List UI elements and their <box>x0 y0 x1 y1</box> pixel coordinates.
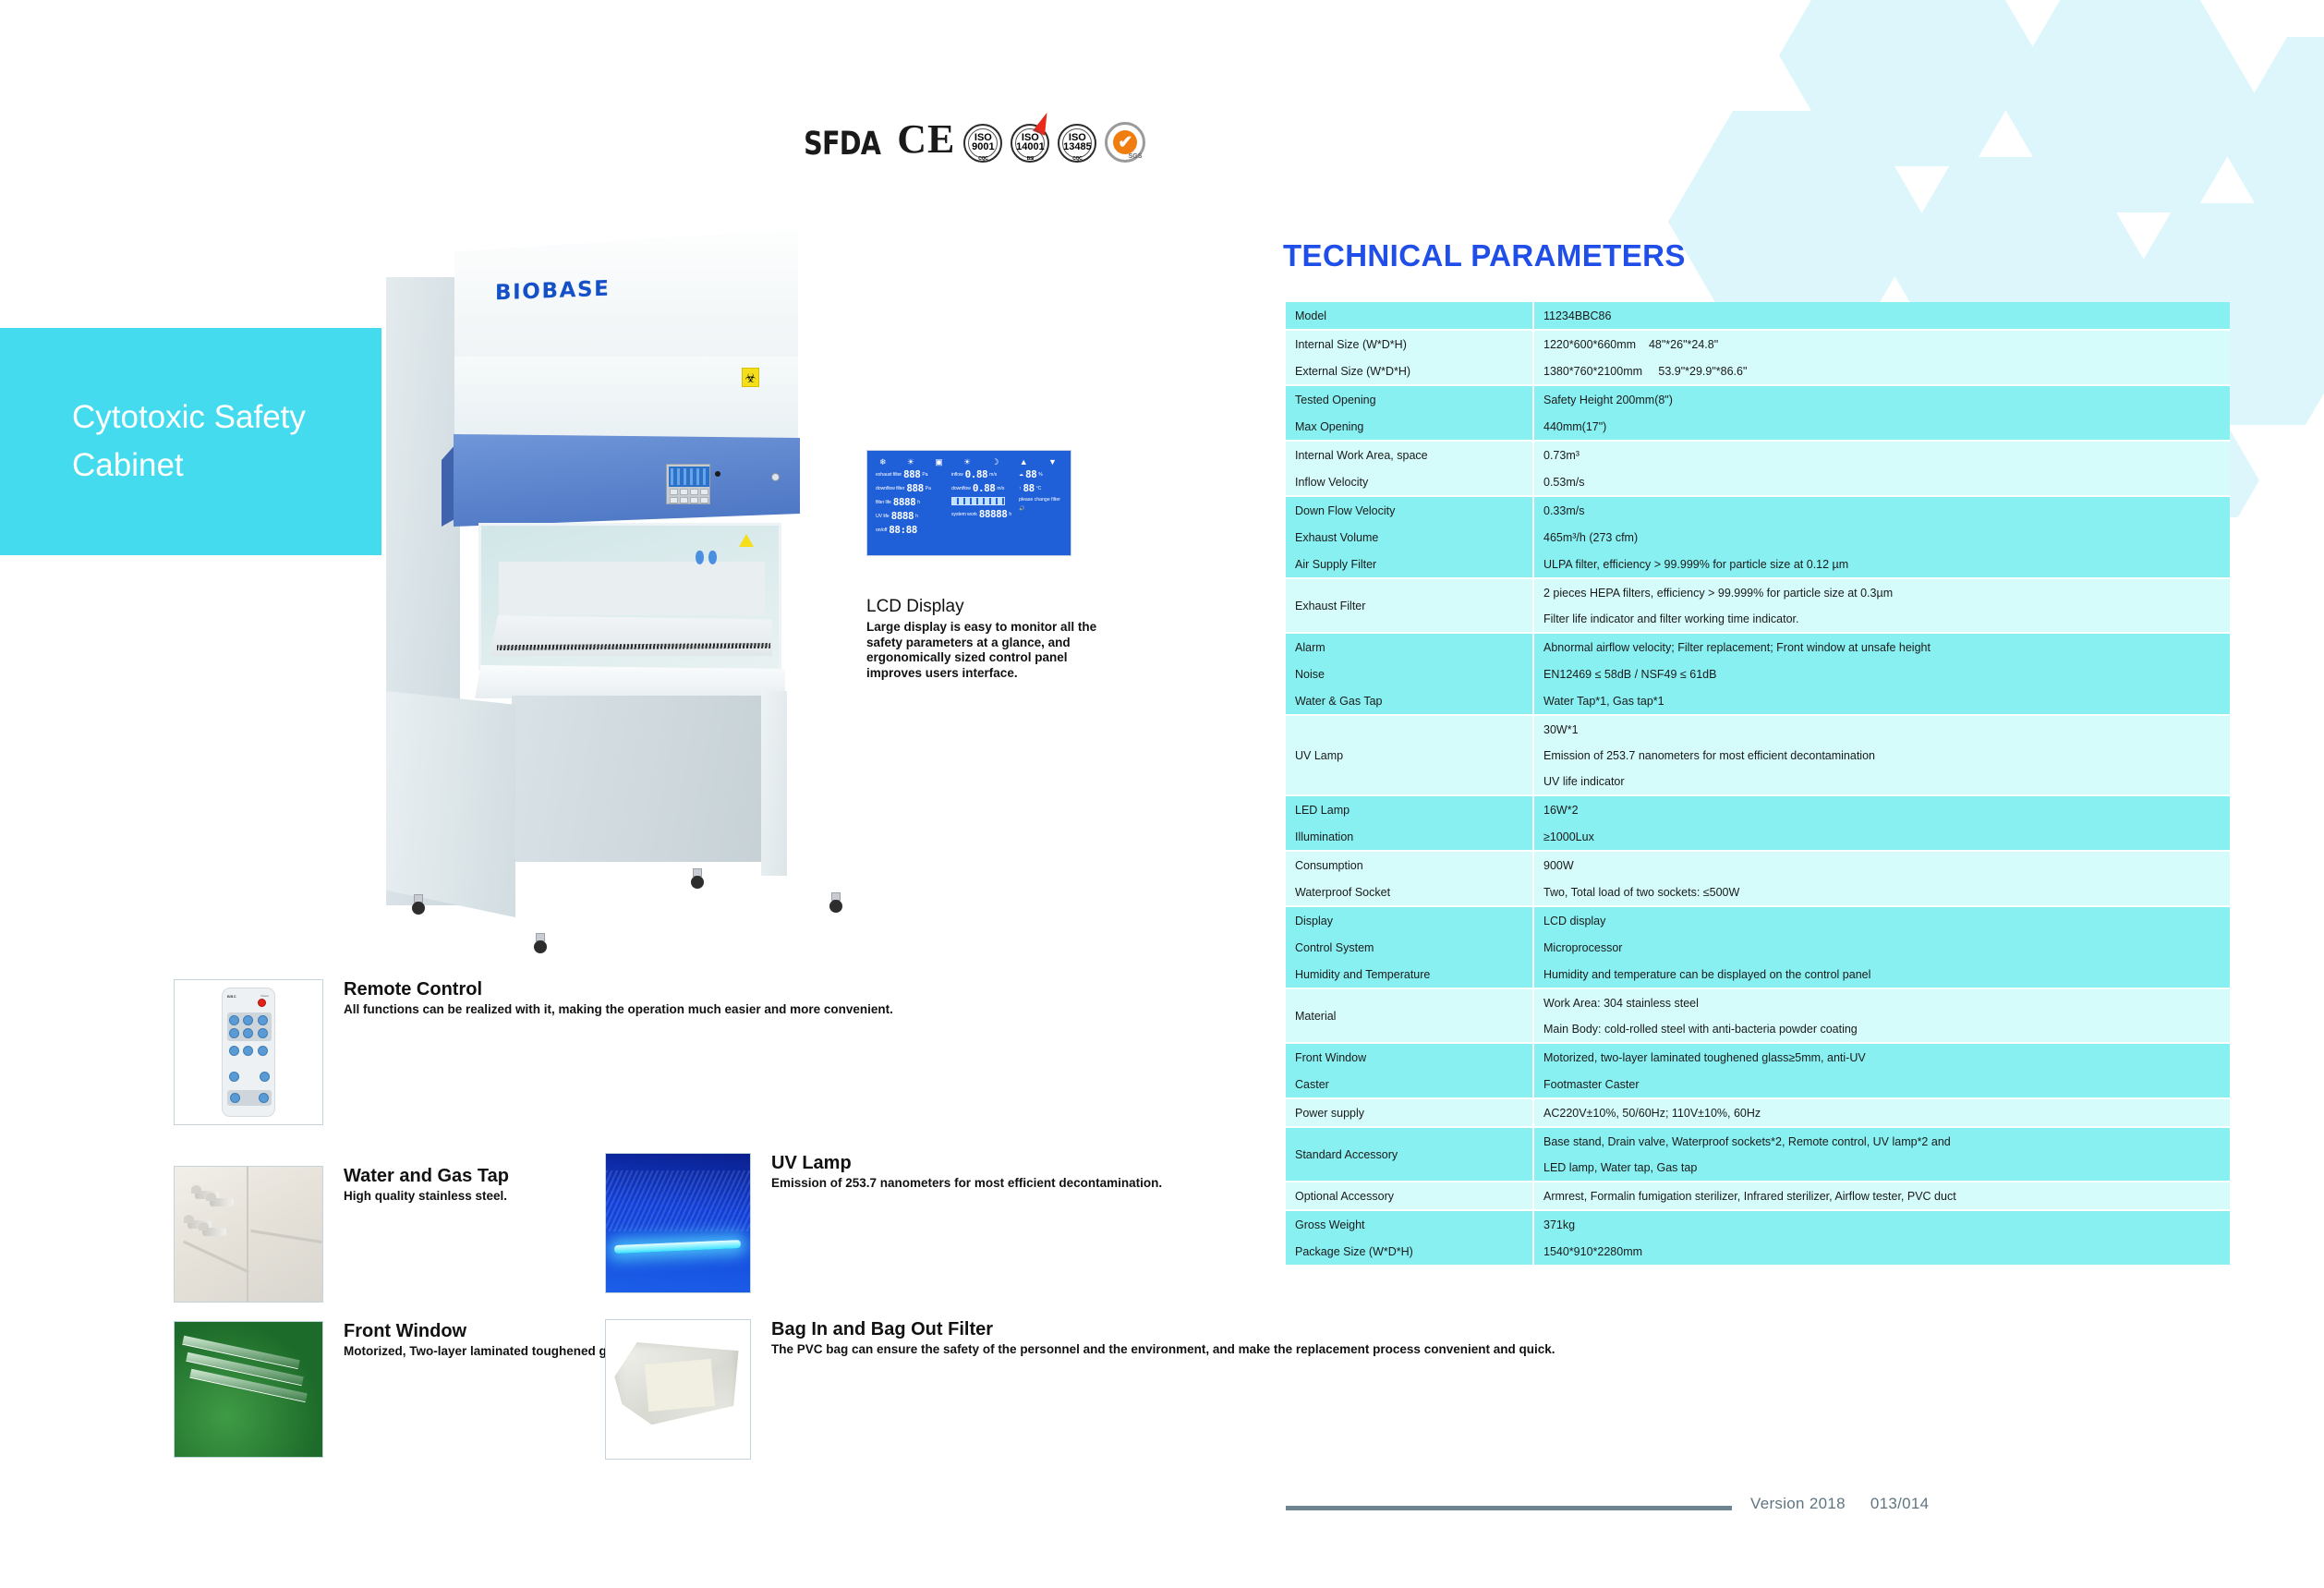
remote-button[interactable] <box>229 1072 239 1082</box>
warning-triangle-icon <box>739 534 754 547</box>
caster-wheel <box>829 892 842 913</box>
param-value-line: Filter life indicator and filter working… <box>1543 612 2221 626</box>
tap-photo-art <box>175 1167 322 1302</box>
lcd-unit: h <box>915 514 918 519</box>
remote-button[interactable] <box>229 1015 239 1025</box>
param-name: Caster <box>1286 1071 1533 1098</box>
table-row: Consumption900W <box>1286 851 2230 879</box>
cabinet-side-knob[interactable] <box>771 473 780 481</box>
iso-14001-badge: ISO 14001 BSI <box>1011 124 1049 163</box>
param-name: Internal Work Area, space <box>1286 441 1533 468</box>
param-value-line: 16W*2 <box>1543 803 2221 818</box>
param-name: Gross Weight <box>1286 1210 1533 1238</box>
shelf-rail <box>250 1230 322 1243</box>
page-number: 013/014 <box>1870 1495 1930 1512</box>
iso-number: 13485 <box>1063 142 1092 152</box>
feature-body: High quality stainless steel. <box>344 1189 509 1205</box>
param-value-line: 371kg <box>1543 1218 2221 1232</box>
param-value: 0.33m/s <box>1533 496 2230 524</box>
lcd-label: on/off <box>876 527 887 533</box>
lcd-value: 88:88 <box>889 525 917 535</box>
lcd-value: 8888 <box>891 511 914 521</box>
cabinet-base-stand-left <box>386 691 515 917</box>
param-value-line: 0.33m/s <box>1543 503 2221 518</box>
param-value: 371kg <box>1533 1210 2230 1238</box>
remote-keypad-group-2[interactable] <box>227 1044 272 1058</box>
light-icon: ☀ <box>907 457 914 467</box>
front-window-photo <box>174 1321 323 1458</box>
ir-receiver-icon <box>715 471 720 477</box>
caster-wheel <box>691 868 704 889</box>
param-value-line: UV life indicator <box>1543 774 2221 789</box>
param-value-line: AC220V±10%, 50/60Hz; 110V±10%, 60Hz <box>1543 1106 2221 1121</box>
param-value-line: EN12469 ≤ 58dB / NSF49 ≤ 61dB <box>1543 667 2221 682</box>
table-row: Internal Work Area, space0.73m³ <box>1286 441 2230 468</box>
cabinet-interior-back-wall <box>499 562 765 615</box>
remote-button[interactable] <box>260 1072 270 1082</box>
param-name: Power supply <box>1286 1098 1533 1127</box>
param-name: Water & Gas Tap <box>1286 687 1533 715</box>
param-value-line: LCD display <box>1543 914 2221 928</box>
param-value-line: Microprocessor <box>1543 940 2221 955</box>
param-name: Down Flow Velocity <box>1286 496 1533 524</box>
remote-button[interactable] <box>243 1015 253 1025</box>
thermometer-icon: ↑ <box>1019 486 1022 491</box>
lcd-label: filter life <box>876 500 891 505</box>
speaker-icon: 🔊 <box>1019 506 1062 512</box>
uv-tube <box>614 1240 742 1254</box>
param-value: 1220*600*660mm 48"*26"*24.8" <box>1533 330 2230 358</box>
remote-control-device: BBC Power <box>222 988 275 1117</box>
param-value-line: 2 pieces HEPA filters, efficiency > 99.9… <box>1543 586 2221 600</box>
table-row: DisplayLCD display <box>1286 906 2230 934</box>
lcd-display-caption: LCD Display Large display is easy to mon… <box>866 597 1116 681</box>
lcd-value: 88888 <box>979 509 1008 519</box>
param-value-line: ULPA filter, efficiency > 99.999% for pa… <box>1543 557 2221 572</box>
sfda-logo: SFDA <box>804 126 880 163</box>
param-name: Humidity and Temperature <box>1286 961 1533 988</box>
lcd-unit: m/s <box>989 472 997 478</box>
param-name: Air Supply Filter <box>1286 551 1533 578</box>
remote-button[interactable] <box>258 1028 268 1038</box>
param-name: Consumption <box>1286 851 1533 879</box>
lcd-unit: Pa <box>926 486 931 491</box>
feature-body: The PVC bag can ensure the safety of the… <box>771 1342 1555 1358</box>
param-name: LED Lamp <box>1286 795 1533 823</box>
param-value: Humidity and temperature can be displaye… <box>1533 961 2230 988</box>
keypad-key[interactable] <box>670 489 678 495</box>
param-value-line: Main Body: cold-rolled steel with anti-b… <box>1543 1022 2221 1036</box>
footer-divider <box>1286 1506 1732 1510</box>
remote-keypad-group-1[interactable] <box>227 1012 272 1041</box>
param-value-line: LED lamp, Water tap, Gas tap <box>1543 1160 2221 1175</box>
lcd-value: 888 <box>906 483 923 493</box>
lcd-label: UV life <box>876 514 890 519</box>
lcd-unit: Pa <box>922 472 927 478</box>
gas-tap-icon <box>708 551 717 564</box>
param-value: ≥1000Lux <box>1533 823 2230 851</box>
feature-water-and-gas-tap: Water and Gas Tap High quality stainless… <box>174 1166 509 1303</box>
param-value-line: 1540*910*2280mm <box>1543 1244 2221 1259</box>
glass-edge <box>247 1167 248 1303</box>
down-arrow-icon: ▼ <box>1048 457 1057 467</box>
uv-mesh-texture <box>606 1170 750 1231</box>
param-value: 440mm(17") <box>1533 413 2230 441</box>
param-value: Footmaster Caster <box>1533 1071 2230 1098</box>
param-value-line: Abnormal airflow velocity; Filter replac… <box>1543 640 2221 655</box>
param-value: Armrest, Formalin fumigation sterilizer,… <box>1533 1182 2230 1210</box>
table-row: Exhaust Filter2 pieces HEPA filters, eff… <box>1286 578 2230 633</box>
lcd-middle-column: inflow 0.88 m/s downflow 0.88 m/s system… <box>951 469 1013 535</box>
biobase-logo: BIOBASE <box>495 277 610 306</box>
param-name: External Size (W*D*H) <box>1286 358 1533 385</box>
lcd-unit: h <box>1009 512 1011 517</box>
table-row: NoiseEN12469 ≤ 58dB / NSF49 ≤ 61dB <box>1286 661 2230 687</box>
lcd-unit: °C <box>1036 486 1042 491</box>
page-title: TECHNICAL PARAMETERS <box>1283 238 1686 273</box>
lcd-downflow-reading: downflow 0.88 m/s <box>951 483 1013 493</box>
bag-photo-art <box>606 1320 750 1459</box>
remote-button[interactable] <box>243 1046 253 1056</box>
sgs-logo: ✔ SGS <box>1105 122 1145 163</box>
product-title-line-2: Cabinet <box>72 442 381 490</box>
keypad-key[interactable] <box>700 497 708 503</box>
iso-accreditor: BSI <box>1027 156 1034 162</box>
lcd-value: 0.88 <box>973 483 996 493</box>
water-gas-tap-photo <box>174 1166 323 1303</box>
param-value-line: 0.73m³ <box>1543 448 2221 463</box>
param-value-line: 1380*760*2100mm 53.9"*29.9"*86.6" <box>1543 364 2221 379</box>
param-value: AC220V±10%, 50/60Hz; 110V±10%, 60Hz <box>1533 1098 2230 1127</box>
param-value-line: Armrest, Formalin fumigation sterilizer,… <box>1543 1189 2221 1204</box>
keypad-key[interactable] <box>690 489 698 495</box>
table-row: Gross Weight371kg <box>1286 1210 2230 1238</box>
param-name: Exhaust Volume <box>1286 524 1533 551</box>
param-value: Water Tap*1, Gas tap*1 <box>1533 687 2230 715</box>
table-row: Humidity and TemperatureHumidity and tem… <box>1286 961 2230 988</box>
lcd-humidity-reading: ☁ 88 % <box>1019 469 1062 479</box>
param-name: Waterproof Socket <box>1286 879 1533 906</box>
lcd-value: 88 <box>1025 469 1036 479</box>
iso-13485-badge: ISO 13485 CQC <box>1058 124 1096 163</box>
feature-remote-control: BBC Power <box>174 979 893 1125</box>
table-row: Standard AccessoryBase stand, Drain valv… <box>1286 1127 2230 1182</box>
param-name: Noise <box>1286 661 1533 687</box>
param-name: Tested Opening <box>1286 385 1533 413</box>
param-value-line: 440mm(17") <box>1543 419 2221 434</box>
remote-button[interactable] <box>230 1093 240 1103</box>
biohazard-icon: ☣ <box>742 368 759 387</box>
table-row: Air Supply FilterULPA filter, efficiency… <box>1286 551 2230 578</box>
keypad-key[interactable] <box>670 497 678 503</box>
param-value-line: Work Area: 304 stainless steel <box>1543 996 2221 1011</box>
uv-photo-art <box>606 1154 750 1292</box>
param-value: 465m³/h (273 cfm) <box>1533 524 2230 551</box>
table-row: Illumination≥1000Lux <box>1286 823 2230 851</box>
param-name: Max Opening <box>1286 413 1533 441</box>
param-name: Material <box>1286 988 1533 1043</box>
feature-bag-in-bag-out-filter: Bag In and Bag Out Filter The PVC bag ca… <box>605 1319 1555 1460</box>
lcd-label: downflow filter <box>876 486 904 491</box>
param-value: 0.53m/s <box>1533 468 2230 496</box>
ce-logo: CE <box>897 115 955 163</box>
cabinet-base-stand-right <box>761 691 787 876</box>
lcd-caption-body: Large display is easy to monitor all the… <box>866 620 1116 681</box>
feature-title: UV Lamp <box>771 1153 1162 1174</box>
lcd-temperature-reading: ↑ 88 °C <box>1019 483 1062 493</box>
lcd-unit: % <box>1038 472 1042 478</box>
param-value-line: 30W*1 <box>1543 722 2221 737</box>
param-value: 1540*910*2280mm <box>1533 1238 2230 1266</box>
remote-button[interactable] <box>258 1046 268 1056</box>
feature-body: Emission of 253.7 nanometers for most ef… <box>771 1176 1162 1192</box>
param-value: 16W*2 <box>1533 795 2230 823</box>
cabinet-keypad[interactable] <box>670 489 708 503</box>
remote-button[interactable] <box>258 1015 268 1025</box>
lcd-value: 888 <box>903 469 920 479</box>
table-row: Exhaust Volume465m³/h (273 cfm) <box>1286 524 2230 551</box>
table-row: MaterialWork Area: 304 stainless steelMa… <box>1286 988 2230 1043</box>
param-value-line: Motorized, two-layer laminated toughened… <box>1543 1050 2221 1065</box>
param-value: Motorized, two-layer laminated toughened… <box>1533 1043 2230 1071</box>
moon-icon: ☽ <box>991 457 999 467</box>
cabinet-control-band <box>454 434 800 527</box>
param-value: 900W <box>1533 851 2230 879</box>
lcd-downflow-filter-reading: downflow filter 888 Pa <box>876 483 946 493</box>
lcd-uv-life-reading: UV life 8888 h <box>876 511 946 521</box>
lcd-label: downflow <box>951 486 971 491</box>
check-icon: ✔ <box>1113 130 1137 154</box>
feature-uv-lamp: UV Lamp Emission of 253.7 nanometers for… <box>605 1153 1162 1293</box>
param-name: Standard Accessory <box>1286 1127 1533 1182</box>
param-value-line: Safety Height 200mm(8") <box>1543 393 2221 407</box>
remote-button[interactable] <box>243 1028 253 1038</box>
feature-body: All functions can be realized with it, m… <box>344 1002 893 1018</box>
param-name: Alarm <box>1286 633 1533 661</box>
remote-power-label: Power <box>260 994 269 998</box>
param-name: Display <box>1286 906 1533 934</box>
feature-title: Remote Control <box>344 979 893 1000</box>
lcd-caption-title: LCD Display <box>866 597 1116 617</box>
table-row: CasterFootmaster Caster <box>1286 1071 2230 1098</box>
param-name: Exhaust Filter <box>1286 578 1533 633</box>
table-row: Front WindowMotorized, two-layer laminat… <box>1286 1043 2230 1071</box>
certification-logos: SFDA CE ISO 9001 CQC ISO 14001 BSI ISO 1… <box>795 109 1145 163</box>
param-name: Internal Size (W*D*H) <box>1286 330 1533 358</box>
param-value: LCD display <box>1533 906 2230 934</box>
remote-keypad-group-3[interactable] <box>227 1070 272 1084</box>
remote-keypad-group-4[interactable] <box>227 1090 272 1106</box>
keypad-key[interactable] <box>690 497 698 503</box>
lcd-right-column: ☁ 88 % ↑ 88 °C please change filter 🔊 <box>1019 469 1062 535</box>
table-row: Water & Gas TapWater Tap*1, Gas tap*1 <box>1286 687 2230 715</box>
product-photo-safety-cabinet: BIOBASE ☣ <box>386 229 866 996</box>
lcd-label: system work <box>951 512 977 517</box>
cabinet-base-stand-back <box>512 696 769 862</box>
table-row: LED Lamp16W*2 <box>1286 795 2230 823</box>
lcd-value: 0.88 <box>965 469 988 479</box>
keypad-key[interactable] <box>680 497 688 503</box>
lcd-label: exhaust filter <box>876 472 902 478</box>
table-row: Internal Size (W*D*H)1220*600*660mm 48"*… <box>1286 330 2230 358</box>
remote-control-photo: BBC Power <box>174 979 323 1125</box>
param-value-line: 465m³/h (273 cfm) <box>1543 530 2221 545</box>
technical-parameters-table: Model11234BBC86Internal Size (W*D*H)1220… <box>1286 302 2230 1267</box>
lcd-value: 8888 <box>893 497 916 507</box>
param-value-line: 1220*600*660mm 48"*26"*24.8" <box>1543 337 2221 352</box>
product-title-banner: Cytotoxic Safety Cabinet <box>0 328 381 555</box>
sgs-label: SGS <box>1129 153 1143 160</box>
param-value-line: 0.53m/s <box>1543 475 2221 490</box>
caster-wheel <box>412 894 425 915</box>
param-name: UV Lamp <box>1286 715 1533 795</box>
param-name: Control System <box>1286 934 1533 961</box>
power-button[interactable] <box>258 999 266 1007</box>
remote-button[interactable] <box>229 1046 239 1056</box>
cabinet-control-panel[interactable] <box>666 464 710 504</box>
remote-button[interactable] <box>229 1028 239 1038</box>
param-value: 2 pieces HEPA filters, efficiency > 99.9… <box>1533 578 2230 633</box>
uv-lamp-photo <box>605 1153 751 1293</box>
shelf-rail <box>183 1241 249 1274</box>
table-row: Max Opening440mm(17") <box>1286 413 2230 441</box>
table-row: Waterproof SocketTwo, Total load of two … <box>1286 879 2230 906</box>
param-name: Model <box>1286 302 1533 330</box>
lcd-label: inflow <box>951 472 963 478</box>
version-label: Version 2018 <box>1750 1495 1846 1512</box>
lcd-system-work-reading: system work 88888 h <box>951 509 1013 519</box>
fan-icon: ❄ <box>879 457 887 467</box>
table-row: Power supplyAC220V±10%, 50/60Hz; 110V±10… <box>1286 1098 2230 1127</box>
socket-icon: ▣ <box>935 457 943 467</box>
feature-title: Water and Gas Tap <box>344 1166 509 1187</box>
lcd-inflow-reading: inflow 0.88 m/s <box>951 469 1013 479</box>
param-value-line: Footmaster Caster <box>1543 1077 2221 1092</box>
cabinet-lcd-screen <box>669 467 709 487</box>
param-name: Package Size (W*D*H) <box>1286 1238 1533 1266</box>
iso-accreditor: CQC <box>978 156 987 162</box>
param-name: Front Window <box>1286 1043 1533 1071</box>
param-value: 11234BBC86 <box>1533 302 2230 330</box>
param-name: Illumination <box>1286 823 1533 851</box>
feature-title: Bag In and Bag Out Filter <box>771 1319 1555 1340</box>
param-value-line: Emission of 253.7 nanometers for most ef… <box>1543 748 2221 763</box>
param-value: 30W*1Emission of 253.7 nanometers for mo… <box>1533 715 2230 795</box>
keypad-key[interactable] <box>680 489 688 495</box>
param-value-line: 900W <box>1543 858 2221 873</box>
table-row: Control SystemMicroprocessor <box>1286 934 2230 961</box>
param-value: Two, Total load of two sockets: ≤500W <box>1533 879 2230 906</box>
param-value-line: ≥1000Lux <box>1543 830 2221 844</box>
table-row: Down Flow Velocity0.33m/s <box>1286 496 2230 524</box>
iso-9001-badge: ISO 9001 CQC <box>963 124 1002 163</box>
param-value: Safety Height 200mm(8") <box>1533 385 2230 413</box>
caster-wheel <box>534 933 547 953</box>
lcd-change-filter-alert: please change filter <box>1019 497 1062 503</box>
uv-light-icon: ☀ <box>963 457 971 467</box>
table-row: Tested OpeningSafety Height 200mm(8") <box>1286 385 2230 413</box>
param-value: EN12469 ≤ 58dB / NSF49 ≤ 61dB <box>1533 661 2230 687</box>
cabinet-apron <box>475 665 785 698</box>
table-row: Package Size (W*D*H)1540*910*2280mm <box>1286 1238 2230 1266</box>
param-value-line: Humidity and temperature can be displaye… <box>1543 967 2221 982</box>
product-title-line-1: Cytotoxic Safety <box>72 394 381 442</box>
table-row: AlarmAbnormal airflow velocity; Filter r… <box>1286 633 2230 661</box>
bag-filter-photo <box>605 1319 751 1460</box>
footer-meta: Version 2018 013/014 <box>1750 1495 1949 1513</box>
table-row: Optional AccessoryArmrest, Formalin fumi… <box>1286 1182 2230 1210</box>
table-row: External Size (W*D*H)1380*760*2100mm 53.… <box>1286 358 2230 385</box>
water-tap-icon <box>696 551 704 564</box>
table-row: Model11234BBC86 <box>1286 302 2230 330</box>
table-row: UV Lamp30W*1Emission of 253.7 nanometers… <box>1286 715 2230 795</box>
remote-button[interactable] <box>259 1093 269 1103</box>
keypad-key[interactable] <box>700 489 708 495</box>
up-arrow-icon: ▲ <box>1020 457 1028 467</box>
iso-accreditor: CQC <box>1072 156 1082 162</box>
param-value-line: 11234BBC86 <box>1543 309 2221 323</box>
param-value: Base stand, Drain valve, Waterproof sock… <box>1533 1127 2230 1182</box>
param-value-line: Base stand, Drain valve, Waterproof sock… <box>1543 1134 2221 1149</box>
param-value: Work Area: 304 stainless steelMain Body:… <box>1533 988 2230 1043</box>
lcd-filter-life-reading: filter life 8888 h <box>876 497 946 507</box>
param-value: 0.73m³ <box>1533 441 2230 468</box>
param-value-line: Two, Total load of two sockets: ≤500W <box>1543 885 2221 900</box>
lcd-on-off-timer-reading: on/off 88:88 <box>876 525 946 535</box>
iso-number: 14001 <box>1016 142 1045 152</box>
cabinet-taps <box>696 551 723 565</box>
humidity-icon: ☁ <box>1019 472 1023 478</box>
lcd-display-detail: ❄ ☀ ▣ ☀ ☽ ▲ ▼ exhaust filter 888 Pa down… <box>866 450 1071 556</box>
param-name: Inflow Velocity <box>1286 468 1533 496</box>
lcd-unit: m/s <box>997 486 1004 491</box>
lcd-exhaust-filter-reading: exhaust filter 888 Pa <box>876 469 946 479</box>
glass-photo-art <box>175 1322 322 1457</box>
iso-number: 9001 <box>972 142 994 152</box>
param-value: Microprocessor <box>1533 934 2230 961</box>
param-value-line: Water Tap*1, Gas tap*1 <box>1543 694 2221 709</box>
param-name: Optional Accessory <box>1286 1182 1533 1210</box>
table-row: Inflow Velocity0.53m/s <box>1286 468 2230 496</box>
tap-icon <box>202 1228 226 1236</box>
lcd-left-column: exhaust filter 888 Pa downflow filter 88… <box>876 469 946 535</box>
lcd-value: 88 <box>1023 483 1034 493</box>
lcd-unit: h <box>917 500 920 505</box>
param-value: ULPA filter, efficiency > 99.999% for pa… <box>1533 551 2230 578</box>
tap-icon <box>210 1198 234 1206</box>
filter-core <box>645 1359 715 1412</box>
param-value: Abnormal airflow velocity; Filter replac… <box>1533 633 2230 661</box>
param-value: 1380*760*2100mm 53.9"*29.9"*86.6" <box>1533 358 2230 385</box>
lcd-airflow-bargraph <box>951 497 1005 505</box>
